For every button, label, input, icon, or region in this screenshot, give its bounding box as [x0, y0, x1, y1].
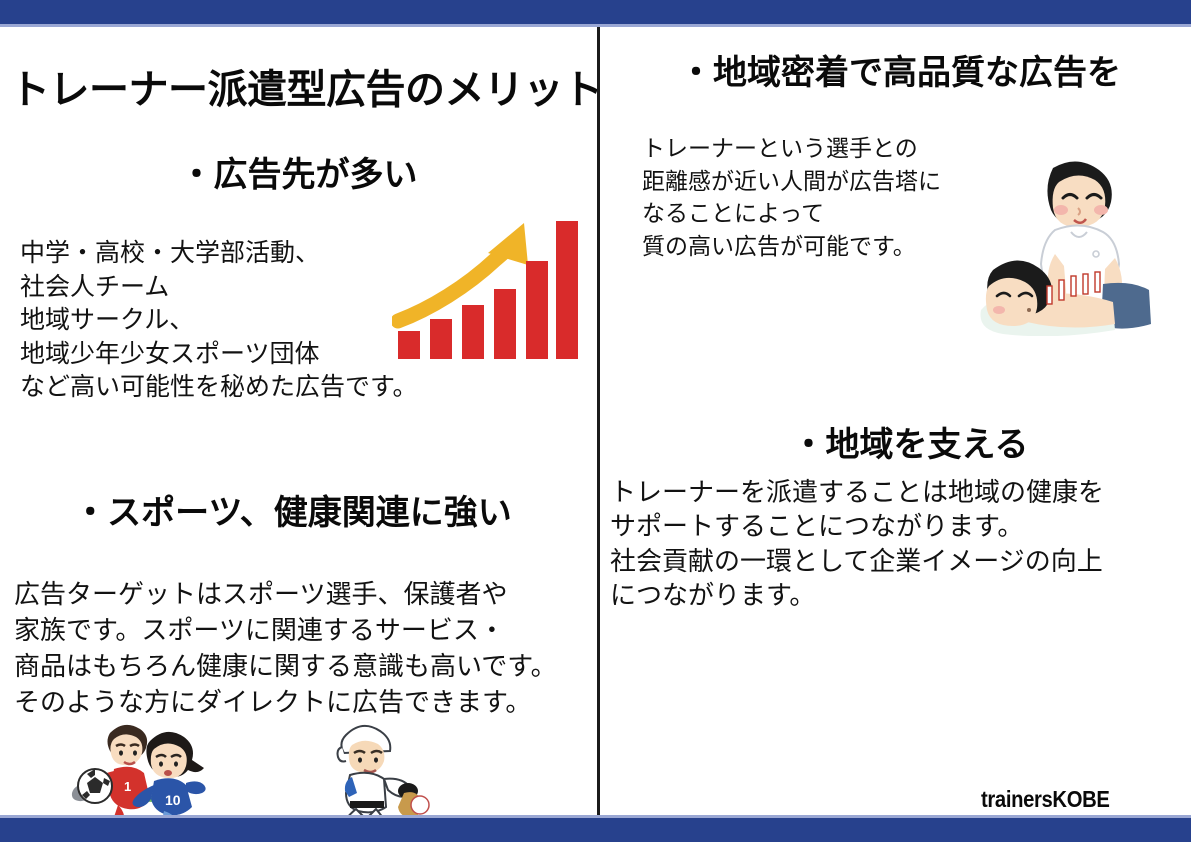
body-local-quality: トレーナーという選手との 距離感が近い人間が広告塔に なることによって 質の高い… — [642, 132, 1032, 263]
heading-local-quality: ・地域密着で高品質な広告を — [620, 45, 1180, 94]
therapist-face — [1053, 175, 1106, 227]
slide-canvas: トレーナー派遣型広告のメリット ・広告先が多い 中学・高校・大学部活動、 社会人… — [0, 0, 1191, 842]
baseball-eye-l — [358, 757, 362, 762]
blue-player-number: 10 — [165, 792, 181, 808]
chart-bar-3 — [462, 305, 484, 359]
growth-chart-svg — [392, 213, 582, 363]
red-player-eye-l — [119, 750, 123, 755]
page-title: トレーナー派遣型広告のメリット — [10, 57, 590, 115]
right-column: ・地域密着で高品質な広告を トレーナーという選手との 距離感が近い人間が広告塔に… — [600, 27, 1191, 815]
growth-arrow-shaft — [398, 247, 510, 321]
therapist-cheek-r — [1094, 205, 1108, 215]
patient-cheek — [993, 306, 1005, 314]
chart-bar-6 — [556, 221, 578, 359]
heading-sports-health: ・スポーツ、健康関連に強い — [0, 485, 585, 534]
patient-mole — [1027, 308, 1031, 312]
red-player-number: 1 — [124, 779, 131, 794]
needle-3 — [1071, 276, 1076, 296]
red-player-face — [110, 734, 142, 765]
chart-bar-2 — [430, 319, 452, 359]
blue-player-eye-l — [159, 761, 163, 766]
acupuncture-svg — [975, 158, 1171, 336]
left-column: トレーナー派遣型広告のメリット ・広告先が多い 中学・高校・大学部活動、 社会人… — [0, 27, 597, 815]
needle-1 — [1047, 286, 1052, 304]
bottom-navy-bar — [0, 818, 1191, 842]
heading-support-local: ・地域を支える — [650, 417, 1170, 466]
baseball-belt — [350, 801, 384, 808]
therapist-cheek-l — [1054, 205, 1068, 215]
needle-5 — [1095, 272, 1100, 292]
baseball-ball — [411, 796, 429, 814]
acupuncture-illustration — [975, 158, 1171, 341]
body-sports-health: 広告ターゲットはスポーツ選手、保護者や 家族です。スポーツに関連するサービス・ … — [14, 577, 584, 721]
growth-chart-illustration — [392, 213, 582, 368]
baseball-face — [349, 741, 385, 773]
chart-bar-1 — [398, 331, 420, 359]
needle-2 — [1059, 280, 1064, 300]
blue-player-arm-r — [186, 781, 206, 794]
body-support-local: トレーナーを派遣することは地域の健康を サポートすることにつながります。 社会貢… — [610, 475, 1190, 612]
red-player-eye-r — [133, 750, 137, 755]
brand-logo: trainersKOBE — [981, 786, 1110, 813]
top-navy-bar — [0, 0, 1191, 24]
baseball-eye-r — [374, 757, 378, 762]
blue-player-eye-r — [174, 761, 178, 766]
needle-4 — [1083, 274, 1088, 294]
chart-bar-4 — [494, 289, 516, 359]
blue-player-mouth — [164, 770, 172, 776]
body-ad-destinations: 中学・高校・大学部活動、 社会人チーム 地域サークル、 地域少年少女スポーツ団体… — [20, 237, 420, 405]
chart-bar-5 — [526, 261, 548, 359]
heading-ad-destinations: ・広告先が多い — [0, 147, 597, 196]
soccer-ball — [78, 769, 112, 803]
